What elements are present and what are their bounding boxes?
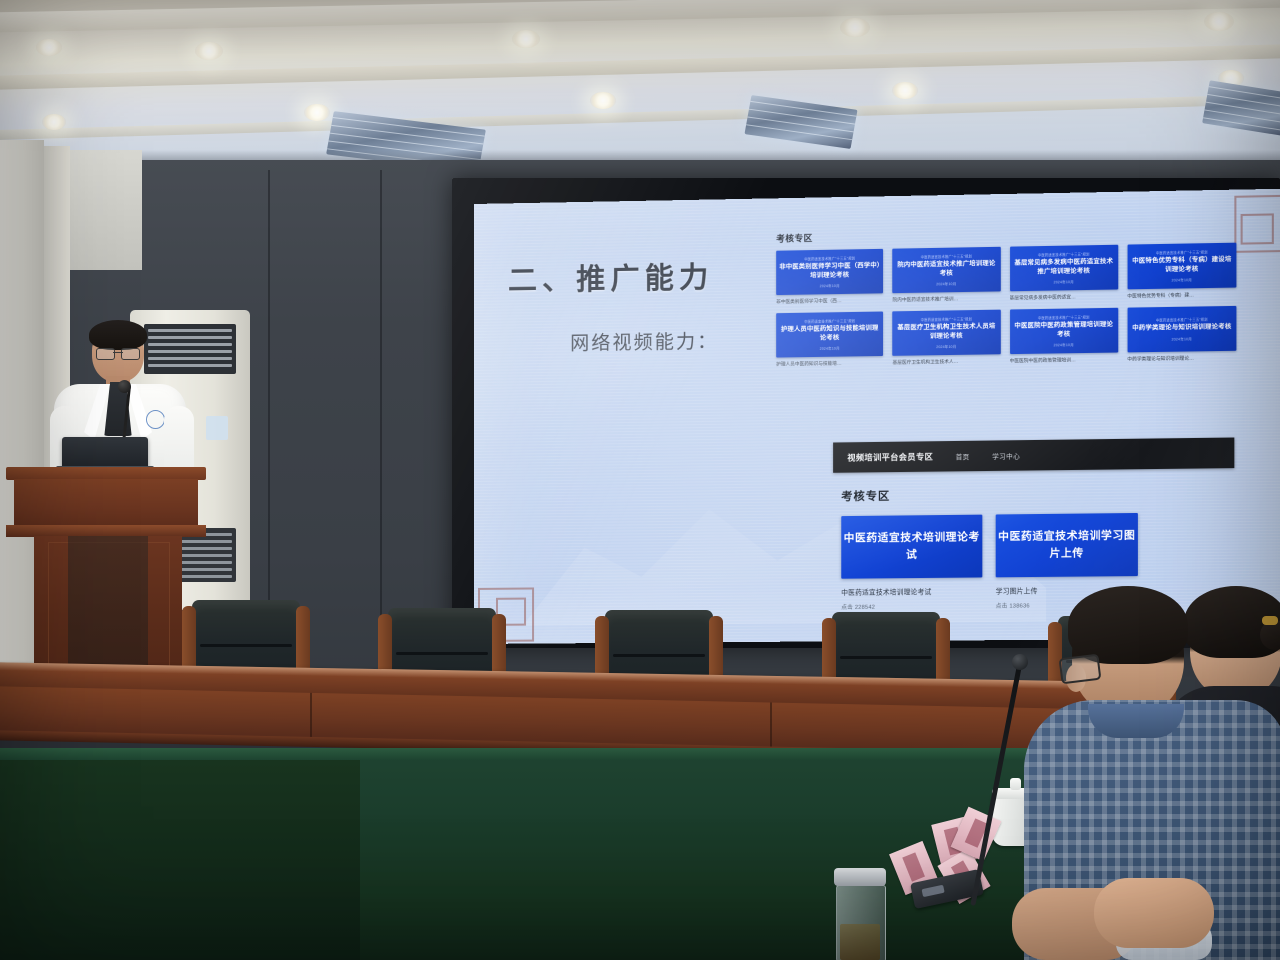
- ceiling: [0, 0, 1280, 172]
- bottom-card-caption: 中医药适宜技术培训理论考试: [841, 586, 982, 597]
- card-caption: 中医医院中医药政策管理培训…: [1010, 357, 1118, 365]
- card-caption: 中药学类理论与知识培训理论…: [1127, 355, 1236, 363]
- audience-member-man: [1030, 592, 1280, 960]
- bottom-assessment-card[interactable]: 中医药适宜技术培训理论考试 中医药适宜技术培训理论考试 点击 228542: [841, 515, 982, 611]
- card-eyebrow: 中医药适宜技术推广"十三五"规划: [804, 255, 855, 261]
- card-title: 基层常见病多发病中医药适宜技术推广培训理论考核: [1010, 257, 1118, 277]
- ceiling-downlight: [512, 30, 540, 48]
- ceiling-panel-light: [1202, 80, 1280, 135]
- presenter-laptop[interactable]: [62, 437, 148, 469]
- bottom-section-label: 考核专区: [841, 484, 1149, 504]
- ceiling-downlight: [42, 114, 66, 130]
- assessment-card[interactable]: 中医药适宜技术推广"十三五"规划 基层医疗卫生机构卫生技术人员培训理论考核 20…: [893, 310, 1001, 366]
- man-glasses-icon: [1059, 654, 1102, 685]
- bottom-card-views: 点击 228542: [841, 602, 982, 611]
- assessment-card[interactable]: 中医药适宜技术推广"十三五"规划 非中医类别医师学习中医（西学中）培训理论考核 …: [776, 249, 883, 305]
- podium-microphone-icon: [118, 380, 131, 393]
- card-title: 中药学类理论与知识培训理论考核: [1129, 323, 1235, 334]
- mug-lid-knob: [1010, 778, 1021, 790]
- card-caption: 护理人员中医药知识与技能培…: [776, 360, 883, 368]
- assessment-card-thumb[interactable]: 中医药适宜技术推广"十三五"规划 中医特色优势专科（专病）建设培训理论考核 20…: [1127, 243, 1236, 290]
- ceiling-panel-light: [744, 95, 857, 149]
- ceiling-downlight: [304, 104, 330, 121]
- ceiling-beam: [0, 44, 1280, 89]
- screen-inner: 二、推广能力 网络视频能力： 考核专区 中医药适宜技术推广"十三五"规划 非中医…: [452, 178, 1280, 648]
- remote-button-panel: [922, 885, 945, 897]
- presentation-room-scene: 二、推广能力 网络视频能力： 考核专区 中医药适宜技术推广"十三五"规划 非中医…: [0, 0, 1280, 960]
- ceiling-downlight: [840, 18, 870, 37]
- card-date: 2024年10月: [820, 283, 840, 288]
- card-eyebrow: 中医药适宜技术推广"十三五"规划: [1156, 317, 1208, 323]
- card-eyebrow: 中医药适宜技术推广"十三五"规划: [921, 253, 972, 259]
- assessment-card-thumb[interactable]: 中医药适宜技术推广"十三五"规划 基层常见病多发病中医药适宜技术推广培训理论考核…: [1010, 245, 1118, 292]
- chair-seam: [396, 652, 488, 655]
- presenter-hair: [89, 320, 147, 350]
- assessment-card-grid: 中医药适宜技术推广"十三五"规划 非中医类别医师学习中医（西学中）培训理论考核 …: [776, 243, 1236, 368]
- card-caption: 院内中医药适宜技术推广培训…: [893, 295, 1001, 303]
- chair-seam: [613, 654, 705, 657]
- assessment-card-thumb[interactable]: 中医药适宜技术推广"十三五"规划 护理人员中医药知识与技能培训理论考核 2024…: [776, 312, 883, 358]
- card-caption: 非中医类别医师学习中医（西…: [776, 297, 883, 305]
- card-date: 2024年10月: [1172, 336, 1192, 341]
- speaker-podium: [6, 467, 206, 695]
- man-hair: [1068, 586, 1188, 664]
- slide-title: 二、推广能力: [508, 254, 713, 300]
- card-eyebrow: 中医药适宜技术推广"十三五"规划: [1038, 251, 1090, 257]
- card-title: 中医医院中医药政策管理培训理论考核: [1010, 321, 1118, 341]
- card-title: 基层医疗卫生机构卫生技术人员培训理论考核: [893, 322, 1001, 342]
- bottom-card-thumb[interactable]: 中医药适宜技术培训学习图片上传: [996, 513, 1138, 577]
- assessment-card[interactable]: 中医药适宜技术推广"十三五"规划 基层常见病多发病中医药适宜技术推广培训理论考核…: [1010, 245, 1118, 302]
- navbar-link-study-center[interactable]: 学习中心: [992, 451, 1020, 460]
- ceiling-downlight: [892, 82, 918, 99]
- card-caption: 中医特色优势专科（专病）建…: [1127, 292, 1236, 300]
- ceiling-downlight: [590, 92, 616, 109]
- wall-light-panel: [70, 150, 142, 270]
- bottom-card-title: 中医药适宜技术培训学习图片上传: [996, 527, 1138, 563]
- navbar-brand: 视频培训平台会员专区: [847, 451, 933, 463]
- assessment-card[interactable]: 中医药适宜技术推广"十三五"规划 中医医院中医药政策管理培训理论考核 2024年…: [1010, 308, 1118, 364]
- card-date: 2024年10月: [1054, 342, 1074, 347]
- card-caption: 基层常见病多发病中医药适宜…: [1010, 294, 1118, 302]
- navbar-link-home[interactable]: 首页: [956, 451, 970, 460]
- ceiling-downlight: [195, 42, 223, 60]
- card-date: 2024年10月: [820, 346, 840, 351]
- top-section-label: 考核专区: [776, 224, 1236, 244]
- card-date: 2024年10月: [936, 344, 956, 349]
- card-eyebrow: 中医药适宜技术推广"十三五"规划: [1038, 314, 1090, 320]
- ceiling-beam: [0, 0, 1280, 32]
- thermos-cap: [834, 868, 886, 886]
- assessment-card[interactable]: 中医药适宜技术推广"十三五"规划 院内中医药适宜技术推广培训理论考核 2024年…: [893, 247, 1001, 303]
- ac-display-panel: [206, 416, 228, 440]
- glass-thermos-bottle[interactable]: [832, 868, 888, 960]
- bottom-card-thumb[interactable]: 中医药适宜技术培训理论考试: [841, 515, 982, 579]
- assessment-card[interactable]: 中医药适宜技术推广"十三五"规划 中药学类理论与知识培训理论考核 2024年10…: [1127, 306, 1236, 363]
- card-eyebrow: 中医药适宜技术推广"十三五"规划: [1156, 249, 1208, 255]
- podium-face-panel: [14, 479, 198, 527]
- chair-seam: [200, 644, 292, 647]
- card-date: 2024年10月: [1172, 278, 1192, 283]
- assessment-card[interactable]: 中医药适宜技术推广"十三五"规划 护理人员中医药知识与技能培训理论考核 2024…: [776, 312, 883, 368]
- assessment-card-thumb[interactable]: 中医药适宜技术推广"十三五"规划 院内中医药适宜技术推广培训理论考核 2024年…: [893, 247, 1001, 293]
- card-title: 中医特色优势专科（专病）建设培训理论考核: [1127, 255, 1236, 275]
- led-display-screen: 二、推广能力 网络视频能力： 考核专区 中医药适宜技术推广"十三五"规划 非中医…: [452, 178, 1280, 648]
- ceiling-downlight: [36, 39, 62, 56]
- slide-subtitle: 网络视频能力：: [570, 326, 718, 355]
- card-caption: 基层医疗卫生机构卫生技术人…: [893, 358, 1001, 366]
- man-shirt-collar: [1088, 704, 1184, 738]
- thermos-tea-leaves: [840, 924, 880, 960]
- ceiling-downlight: [1204, 12, 1234, 31]
- card-eyebrow: 中医药适宜技术推广"十三五"规划: [804, 318, 855, 324]
- foreground-table-step: [0, 760, 360, 960]
- assessment-card-thumb[interactable]: 中医药适宜技术推广"十三五"规划 基层医疗卫生机构卫生技术人员培训理论考核 20…: [893, 310, 1001, 356]
- assessment-card-thumb[interactable]: 中医药适宜技术推广"十三五"规划 中药学类理论与知识培训理论考核 2024年10…: [1127, 306, 1236, 352]
- card-title: 护理人员中医药知识与技能培训理论考核: [776, 324, 883, 344]
- presenter-coat-emblem: [146, 410, 165, 429]
- ceiling-beam: [0, 94, 1280, 140]
- audience-microphone-icon: [1012, 654, 1028, 670]
- platform-navbar: 视频培训平台会员专区 首页 学习中心: [833, 437, 1234, 472]
- assessment-card-thumb[interactable]: 中医药适宜技术推广"十三五"规划 非中医类别医师学习中医（西学中）培训理论考核 …: [776, 249, 883, 295]
- card-title: 非中医类别医师学习中医（西学中）培训理论考核: [776, 261, 883, 281]
- assessment-card-thumb[interactable]: 中医药适宜技术推广"十三五"规划 中医医院中医药政策管理培训理论考核 2024年…: [1010, 308, 1118, 354]
- presenter-glasses-icon: [96, 348, 140, 358]
- bottom-card-title: 中医药适宜技术培训理论考试: [841, 529, 982, 564]
- chair-seam: [840, 656, 932, 659]
- top-screenshot-block: 考核专区 中医药适宜技术推广"十三五"规划 非中医类别医师学习中医（西学中）培训…: [776, 224, 1236, 367]
- presentation-slide: 二、推广能力 网络视频能力： 考核专区 中医药适宜技术推广"十三五"规划 非中医…: [474, 188, 1280, 644]
- man-hand-right: [1094, 878, 1214, 948]
- card-eyebrow: 中医药适宜技术推广"十三五"规划: [921, 316, 972, 322]
- card-title: 院内中医药适宜技术推广培训理论考核: [893, 259, 1001, 279]
- card-date: 2024年10月: [1054, 280, 1074, 285]
- card-date: 2024年10月: [936, 281, 956, 286]
- assessment-card[interactable]: 中医药适宜技术推广"十三五"规划 中医特色优势专科（专病）建设培训理论考核 20…: [1127, 243, 1236, 300]
